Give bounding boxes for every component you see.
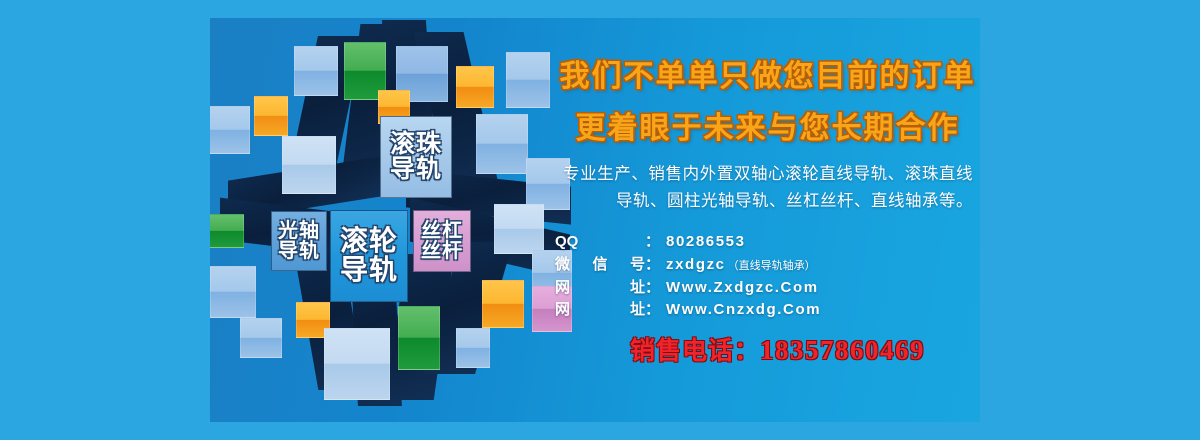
- product-label-rolling-ball-guide[interactable]: 滚珠 导轨: [380, 116, 452, 198]
- contact-value-website-2[interactable]: Www.Cnzxdg.Com: [666, 299, 821, 322]
- contact-key: 微信号: [555, 254, 645, 277]
- contact-key: 网址: [555, 277, 645, 300]
- cube: [506, 52, 550, 108]
- cube: [240, 318, 282, 358]
- cube: [294, 46, 338, 96]
- cube: [210, 214, 244, 248]
- cube: [282, 136, 336, 194]
- contact-value-website-1[interactable]: Www.Zxdgzc.Com: [666, 277, 819, 300]
- cube: [476, 114, 528, 174]
- promo-banner: 滚珠 导轨 光轴 导轨 滚轮 导轨 丝杠 丝杆 我们不单单只做您目前的订单 更着…: [210, 18, 980, 422]
- contact-separator: ：: [645, 231, 666, 254]
- product-label-line2: 导轨: [340, 256, 398, 285]
- contact-separator: ：: [645, 277, 666, 300]
- contact-list: QQ ： 80286553 微信号 ： zxdgzc （直线导轨轴承） 网址 ：…: [555, 231, 980, 322]
- sales-phone-label: 销售电话：: [630, 331, 760, 367]
- cube: [254, 96, 288, 136]
- product-label-optical-shaft-guide[interactable]: 光轴 导轨: [271, 211, 327, 271]
- contact-separator: ：: [645, 299, 666, 322]
- contact-row-website-1: 网址 ： Www.Zxdgzc.Com: [555, 277, 980, 300]
- exploding-cubes-graphic: 滚珠 导轨 光轴 导轨 滚轮 导轨 丝杠 丝杆: [210, 18, 570, 422]
- contact-separator: ：: [645, 254, 666, 277]
- cube: [210, 266, 256, 318]
- product-label-line2: 丝杆: [421, 241, 463, 261]
- cube: [494, 204, 544, 254]
- contact-value-qq[interactable]: 80286553: [666, 231, 746, 254]
- contact-value-wechat[interactable]: zxdgzc: [666, 254, 726, 277]
- product-label-line1: 丝杠: [421, 221, 463, 241]
- contact-key: 网址: [555, 299, 645, 322]
- cube: [456, 66, 494, 108]
- cube: [210, 106, 250, 154]
- product-label-line1: 光轴: [278, 221, 320, 241]
- sales-phone-number[interactable]: 18357860469: [760, 335, 925, 366]
- product-label-lead-screw[interactable]: 丝杠 丝杆: [413, 210, 471, 272]
- contact-row-website-2: 网址 ： Www.Cnzxdg.Com: [555, 299, 980, 322]
- contact-key: QQ: [555, 231, 645, 254]
- headline-line-2: 更着眼于未来与您长期合作: [555, 103, 980, 147]
- headline-line-1: 我们不单单只做您目前的订单: [555, 51, 980, 95]
- product-label-line1: 滚轮: [340, 227, 398, 256]
- cube: [482, 280, 524, 328]
- product-label-line2: 导轨: [390, 157, 442, 183]
- product-label-line2: 导轨: [278, 241, 320, 261]
- cube: [398, 306, 440, 370]
- contact-row-wechat: 微信号 ： zxdgzc （直线导轨轴承）: [555, 254, 980, 277]
- company-intro-text: 专业生产、销售内外置双轴心滚轮直线导轨、滚珠直线导轨、圆柱光轴导轨、丝杠丝杆、直…: [563, 161, 973, 214]
- contact-note-wechat: （直线导轨轴承）: [728, 258, 816, 275]
- product-label-roller-guide[interactable]: 滚轮 导轨: [330, 210, 408, 302]
- cube: [324, 328, 390, 400]
- cube: [456, 328, 490, 368]
- sales-phone[interactable]: 销售电话： 18357860469: [575, 331, 980, 367]
- contact-row-qq: QQ ： 80286553: [555, 231, 980, 254]
- product-label-line1: 滚珠: [390, 132, 442, 158]
- banner-copy: 我们不单单只做您目前的订单 更着眼于未来与您长期合作 专业生产、销售内外置双轴心…: [555, 18, 980, 422]
